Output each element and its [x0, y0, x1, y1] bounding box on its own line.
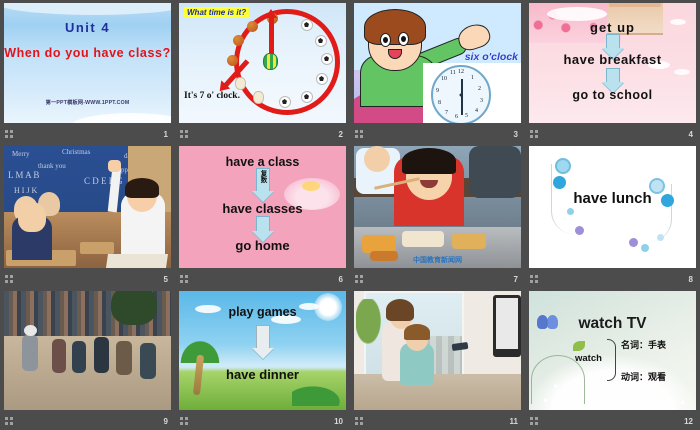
grid-icon: [355, 130, 364, 139]
decor-flower: [555, 158, 571, 174]
clock-hour-hand: [461, 95, 463, 115]
soccerball-icon: [316, 73, 328, 85]
decor-tree: [111, 291, 157, 325]
decor-rug: [354, 374, 521, 410]
basketball-icon: [233, 35, 244, 46]
clock-minute-hand: [269, 15, 274, 57]
slide-cell-1[interactable]: Unit 4 When do you have class? 第一PPT模板网-…: [0, 0, 175, 143]
slide-number: 8: [689, 275, 693, 285]
clock-num: 12: [458, 69, 464, 75]
food-item: [362, 235, 396, 253]
routine-line-3: go to school: [529, 88, 696, 102]
slide-canvas-3: six o'clock 12 1 2 3 4 5 6 7 8 9 10 11: [354, 3, 521, 123]
lesson-phrase: watch TV: [529, 315, 696, 333]
slide-footer-1: 1: [0, 124, 175, 143]
slide-footer-5: 5: [0, 269, 175, 288]
grid-icon: [180, 417, 189, 426]
question-banner: What time is it?: [184, 7, 249, 18]
slide-title-unit: Unit 4: [4, 20, 171, 35]
time-label: six o'clock: [465, 51, 518, 63]
slide-cell-3[interactable]: six o'clock 12 1 2 3 4 5 6 7 8 9 10 11: [350, 0, 525, 143]
watermark-text: 第一PPT模板网-WWW.1PPT.COM: [4, 99, 171, 106]
grid-icon: [530, 275, 539, 284]
soccerball-icon: [315, 35, 327, 47]
class-line-3: go home: [179, 238, 346, 253]
clock-num: 10: [441, 76, 447, 82]
slide-cell-10[interactable]: play games have dinner 10: [175, 288, 350, 430]
class-line-1: have a class: [179, 155, 346, 169]
clock-num: 6: [455, 114, 458, 120]
soccerball-icon: [321, 53, 333, 65]
player: [94, 337, 109, 373]
girl-hair: [402, 148, 456, 174]
slide-cell-11[interactable]: 11: [350, 288, 525, 430]
slide-number: 9: [164, 417, 168, 427]
slide-cell-9[interactable]: 9: [0, 288, 175, 430]
slide-canvas-2: What time is it? It's 7 o' clock.: [179, 3, 346, 123]
background-child-head: [364, 146, 390, 172]
meaning-noun: 名词：手表: [621, 338, 666, 351]
grid-icon: [5, 130, 14, 139]
meaning-verb: 动词：观看: [621, 370, 666, 383]
clock-num: 11: [450, 70, 456, 76]
boy-hair: [364, 9, 426, 45]
child-hair: [404, 324, 430, 340]
clock-illustration: 12 1 2 3 4 5 6 7 8 9 10 11: [423, 63, 521, 123]
volleyball-icon: [235, 77, 246, 90]
slide-number: 6: [339, 275, 343, 285]
decor-leaf: [573, 341, 585, 351]
clock-center-pin: [460, 94, 463, 97]
slide-cell-2[interactable]: What time is it? It's 7 o' clock. 2: [175, 0, 350, 143]
basketball-icon: [227, 55, 238, 66]
slide-canvas-11: [354, 291, 521, 410]
slide-cell-7[interactable]: 中国教育新闻网 7: [350, 143, 525, 288]
slide-footer-2: 2: [175, 124, 350, 143]
basketball-icon: [247, 21, 258, 32]
decor-desk: [80, 242, 114, 254]
soccerball-icon: [301, 19, 313, 31]
down-arrow-with-note: 复数: [252, 168, 274, 202]
slide-number: 5: [164, 275, 168, 285]
slide-title-question: When do you have class?: [4, 46, 171, 60]
slide-footer-6: 6: [175, 269, 350, 288]
slide-cell-12[interactable]: watch TV watch 名词：手表 动词：观看 12: [525, 288, 700, 430]
decor-wave-top: [4, 3, 171, 15]
slide-footer-3: 3: [350, 124, 525, 143]
grid-icon: [180, 130, 189, 139]
decor-flower: [567, 208, 574, 215]
down-arrow: [252, 325, 274, 359]
vocabulary-word: watch: [575, 353, 602, 364]
student-hair: [125, 178, 159, 198]
boy-eye-right: [398, 32, 409, 46]
lead-player: [22, 335, 38, 371]
slide-number: 2: [339, 130, 343, 140]
background-child: [469, 146, 521, 198]
slide-canvas-8: have lunch: [529, 146, 696, 268]
slide-number: 12: [684, 417, 693, 427]
decor-cloud: [674, 69, 690, 75]
clock-num: 2: [478, 86, 481, 92]
slide-canvas-5: Merry Christmas day thank you Apple L M …: [4, 146, 171, 268]
slide-footer-11: 11: [350, 411, 525, 430]
player: [72, 341, 86, 373]
grid-icon: [355, 417, 364, 426]
student-head: [18, 202, 46, 232]
mother-hair: [386, 299, 414, 321]
raised-hand: [108, 160, 121, 172]
grid-icon: [5, 275, 14, 284]
clock-face: 12 1 2 3 4 5 6 7 8 9 10 11: [431, 65, 491, 123]
grid-icon: [530, 130, 539, 139]
grid-icon: [530, 417, 539, 426]
clock-center-ball: [263, 53, 278, 70]
clock-num: 9: [436, 88, 439, 94]
slide-canvas-7: 中国教育新闻网: [354, 146, 521, 268]
slide-canvas-1: Unit 4 When do you have class? 第一PPT模板网-…: [4, 3, 171, 123]
soccerball-icon: [279, 96, 291, 108]
clock-num: 5: [465, 113, 468, 119]
slide-footer-4: 4: [525, 124, 700, 143]
routine-line-2: have breakfast: [529, 52, 696, 67]
slide-number: 4: [689, 130, 693, 140]
decor-flower: [553, 176, 566, 189]
slide-cell-5[interactable]: Merry Christmas day thank you Apple L M …: [0, 143, 175, 288]
clock-num: 8: [438, 100, 441, 106]
class-line-2: have classes: [179, 201, 346, 216]
brace-bracket: [607, 339, 616, 381]
clock-num: 7: [445, 110, 448, 116]
decor-flower: [629, 238, 638, 247]
clock-num: 3: [480, 98, 483, 104]
player: [140, 343, 156, 379]
slide-footer-9: 9: [0, 411, 175, 430]
slide-number: 7: [514, 275, 518, 285]
decor-bush: [292, 384, 344, 406]
slide-footer-12: 12: [525, 411, 700, 430]
decor-flower: [575, 226, 584, 235]
slide-canvas-4: get up have breakfast go to school: [529, 3, 696, 123]
open-book: [106, 254, 168, 268]
slide-number: 1: [164, 130, 168, 140]
remote-control: [452, 342, 469, 351]
volleyball-icon: [253, 91, 264, 104]
slide-number: 3: [514, 130, 518, 140]
slide-number: 10: [334, 417, 343, 427]
player: [116, 341, 132, 375]
grid-icon: [5, 417, 14, 426]
slide-footer-7: 7: [350, 269, 525, 288]
decor-flower: [641, 244, 649, 252]
clock-num: 1: [471, 75, 474, 81]
decor-cloud: [547, 7, 607, 21]
slide-cell-4[interactable]: get up have breakfast go to school 4: [525, 0, 700, 143]
slide-thumbnail-grid: Unit 4 When do you have class? 第一PPT模板网-…: [0, 0, 700, 430]
time-sentence: It's 7 o' clock.: [184, 91, 240, 101]
grid-icon: [355, 275, 364, 284]
evening-line-2: have dinner: [179, 367, 346, 382]
slide-footer-10: 10: [175, 411, 350, 430]
grid-icon: [180, 275, 189, 284]
slide-cell-8[interactable]: have lunch 8: [525, 143, 700, 288]
arrow-note: 复数: [259, 170, 266, 183]
lead-player-cap: [24, 325, 37, 336]
soccerball-icon: [301, 91, 313, 103]
player: [52, 339, 66, 373]
television: [493, 295, 521, 357]
slide-cell-6[interactable]: have a class 复数 have classes go home 6: [175, 143, 350, 288]
slide-canvas-12: watch TV watch 名词：手表 动词：观看: [529, 291, 696, 410]
routine-line-1: get up: [529, 20, 696, 35]
slide-canvas-9: [4, 291, 171, 410]
clock-num: 4: [475, 108, 478, 114]
slide-footer-8: 8: [525, 269, 700, 288]
decor-wave-bottom: [71, 113, 171, 123]
evening-line-1: play games: [179, 305, 346, 319]
lesson-phrase: have lunch: [529, 190, 696, 207]
slide-number: 11: [510, 417, 518, 427]
food-item: [402, 231, 444, 247]
photo-watermark: 中国教育新闻网: [354, 255, 521, 265]
decor-flower: [657, 234, 664, 241]
boy-eye-left: [380, 33, 391, 47]
slide-canvas-10: play games have dinner: [179, 291, 346, 410]
food-item: [452, 233, 486, 249]
slide-canvas-6: have a class 复数 have classes go home: [179, 146, 346, 268]
